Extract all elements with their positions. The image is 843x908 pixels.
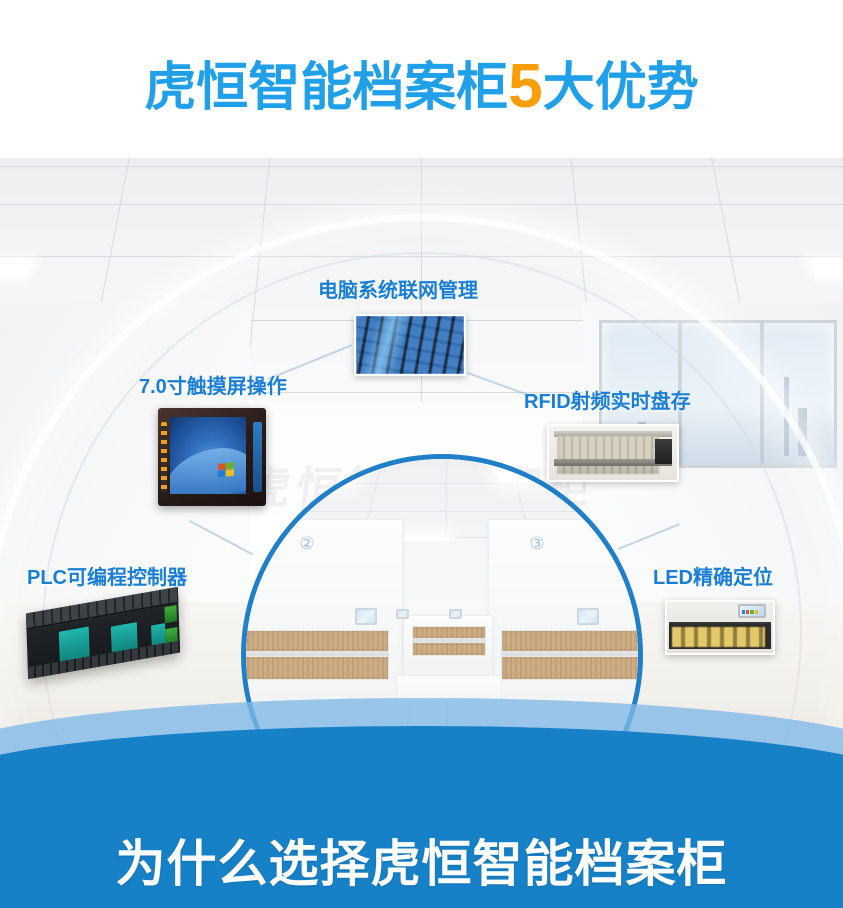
rfid-rail-icon bbox=[554, 459, 672, 466]
feature-label-rfid: RFID射频实时盘存 bbox=[524, 389, 691, 415]
led-shelf-icon bbox=[669, 622, 771, 649]
windows-logo-icon bbox=[218, 462, 234, 478]
plc-module-icon bbox=[26, 587, 180, 679]
feature-touchscreen[interactable]: 7.0寸触摸屏操作 bbox=[139, 374, 287, 506]
plc-bottom-strip-icon bbox=[28, 641, 180, 680]
cabinet-shelf bbox=[243, 630, 389, 652]
panel-side-buttons[interactable] bbox=[253, 422, 262, 493]
page-title-suffix: 大优势 bbox=[543, 59, 699, 117]
panel-indicator-leds bbox=[161, 422, 167, 493]
thumb-rfid[interactable] bbox=[547, 424, 679, 482]
cabinet-mini-display bbox=[577, 608, 599, 625]
feature-label-touchscreen: 7.0寸触摸屏操作 bbox=[139, 374, 287, 400]
cabinet-shelf bbox=[412, 642, 486, 656]
panel-display bbox=[170, 417, 246, 494]
led-display-icon bbox=[738, 604, 766, 618]
cabinet-mini-display bbox=[396, 609, 409, 619]
cabinet-number-3: ③ bbox=[529, 534, 544, 554]
cabinet-shelf bbox=[243, 656, 389, 680]
wallpaper-hill-icon bbox=[170, 445, 246, 494]
feature-rfid[interactable]: RFID射频实时盘存 bbox=[524, 389, 691, 482]
plc-terminal-strip-icon bbox=[26, 587, 178, 630]
footer-banner: 为什么选择虎恒智能档案柜 bbox=[0, 812, 843, 908]
cabinet-far bbox=[403, 615, 493, 677]
feature-label-computer-network: 电脑系统联网管理 bbox=[318, 278, 478, 304]
file-folders-icon bbox=[672, 627, 765, 648]
rfid-files-icon bbox=[557, 436, 659, 474]
footer-banner-text: 为什么选择虎恒智能档案柜 bbox=[116, 824, 728, 896]
cabinet-mini-display bbox=[449, 609, 462, 619]
thumb-computer-network[interactable] bbox=[354, 314, 466, 376]
rfid-reader-icon bbox=[655, 439, 672, 464]
feature-label-led: LED精确定位 bbox=[653, 565, 775, 591]
cabinet-shelf bbox=[412, 626, 486, 639]
cabinet-shelf bbox=[501, 656, 643, 680]
cabinet-mini-display bbox=[355, 608, 377, 625]
light-beam-icon bbox=[354, 314, 439, 376]
page-title-number: 5 bbox=[508, 52, 542, 121]
page-title-prefix: 虎恒智能档案柜 bbox=[144, 59, 508, 117]
page-header: 虎恒智能档案柜5大优势 bbox=[0, 0, 843, 158]
feature-computer-network[interactable]: 电脑系统联网管理 bbox=[318, 278, 478, 376]
thumb-led[interactable] bbox=[665, 600, 775, 655]
thumb-touchscreen[interactable] bbox=[158, 408, 266, 506]
cabinet-shelf bbox=[501, 630, 643, 652]
feature-label-plc: PLC可编程控制器 bbox=[27, 565, 187, 591]
promo-page: 虎恒智能档案柜 ② bbox=[0, 0, 843, 908]
page-title: 虎恒智能档案柜5大优势 bbox=[0, 58, 843, 117]
feature-plc[interactable]: PLC可编程控制器 bbox=[27, 565, 187, 678]
thumb-plc[interactable] bbox=[27, 600, 185, 678]
cabinet-number-2: ② bbox=[299, 534, 314, 554]
feature-led[interactable]: LED精确定位 bbox=[653, 565, 775, 655]
